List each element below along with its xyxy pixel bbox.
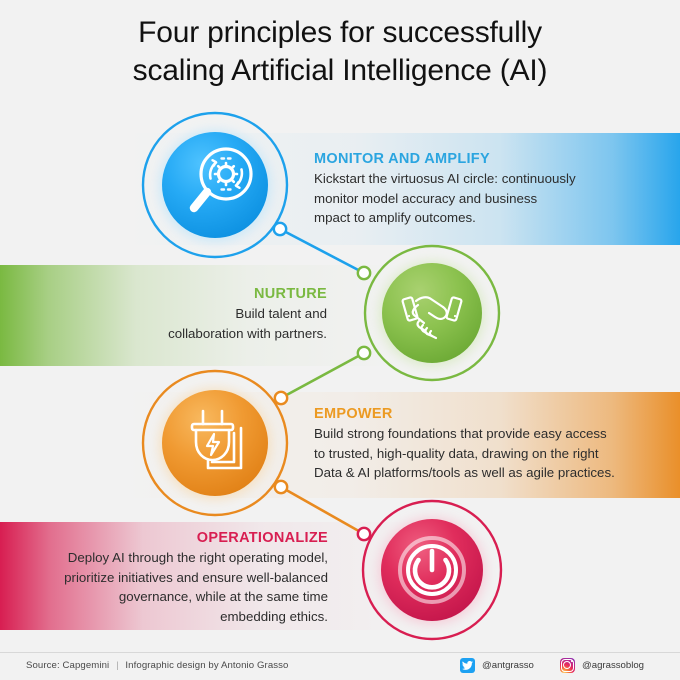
instagram-handle: @agrassoblog bbox=[582, 660, 644, 671]
power-button-icon bbox=[400, 538, 464, 602]
body-line: governance, while at the same time bbox=[10, 587, 328, 607]
connector-node-monitor bbox=[274, 223, 286, 235]
text-operationalize: OPERATIONALIZE Deploy AI through the rig… bbox=[10, 530, 328, 626]
connector-node-nurture-top bbox=[358, 267, 370, 279]
body-line: Deploy AI through the right operating mo… bbox=[10, 548, 328, 568]
social-instagram[interactable]: @agrassoblog bbox=[560, 658, 644, 673]
social-twitter[interactable]: @antgrasso bbox=[460, 658, 534, 673]
instagram-icon bbox=[560, 658, 575, 673]
source-label: Source: Capgemini bbox=[26, 660, 109, 671]
body-line: Data & AI platforms/tools as well as agi… bbox=[314, 463, 666, 483]
node-monitor-and-amplify[interactable] bbox=[143, 113, 287, 257]
body-operationalize: Deploy AI through the right operating mo… bbox=[10, 548, 328, 626]
body-nurture: Build talent and collaboration with part… bbox=[20, 304, 327, 343]
heading-monitor-and-amplify: MONITOR AND AMPLIFY bbox=[314, 151, 664, 167]
body-line: prioritize initiatives and ensure well-b… bbox=[10, 568, 328, 588]
body-line: Build strong foundations that provide ea… bbox=[314, 424, 666, 444]
connector-node-empower-bottom bbox=[275, 481, 287, 493]
body-line: embedding ethics. bbox=[10, 607, 328, 627]
footer-separator: | bbox=[116, 660, 119, 671]
body-line: Kickstart the virtuosus AI circle: conti… bbox=[314, 169, 664, 189]
heading-nurture: NURTURE bbox=[20, 286, 327, 302]
twitter-handle: @antgrasso bbox=[482, 660, 534, 671]
body-line: Build talent and bbox=[20, 304, 327, 324]
body-line: to trusted, high-quality data, drawing o… bbox=[314, 444, 666, 464]
design-credit: Infographic design by Antonio Grasso bbox=[125, 660, 288, 671]
text-nurture: NURTURE Build talent and collaboration w… bbox=[20, 286, 327, 343]
text-empower: EMPOWER Build strong foundations that pr… bbox=[314, 406, 666, 483]
twitter-icon bbox=[460, 658, 475, 673]
connector-empower-operationalize bbox=[281, 487, 364, 534]
heading-operationalize: OPERATIONALIZE bbox=[10, 530, 328, 546]
infographic-canvas: Four principles for successfully scaling… bbox=[0, 0, 680, 680]
connector-monitor-nurture bbox=[280, 229, 364, 273]
node-empower[interactable] bbox=[143, 371, 287, 515]
node-nurture[interactable] bbox=[358, 246, 499, 380]
body-line: collaboration with partners. bbox=[20, 324, 327, 344]
body-line: monitor model accuracy and business bbox=[314, 189, 664, 209]
body-monitor-and-amplify: Kickstart the virtuosus AI circle: conti… bbox=[314, 169, 664, 228]
connector-node-nurture-bottom bbox=[358, 347, 370, 359]
disc-monitor bbox=[162, 132, 268, 238]
heading-empower: EMPOWER bbox=[314, 406, 666, 422]
disc-nurture bbox=[382, 263, 482, 363]
body-empower: Build strong foundations that provide ea… bbox=[314, 424, 666, 483]
node-operationalize[interactable] bbox=[358, 501, 501, 639]
connector-node-empower-top bbox=[275, 392, 287, 404]
connector-node-operationalize bbox=[358, 528, 370, 540]
connector-nurture-empower bbox=[281, 353, 364, 398]
footer-credit: Source: Capgemini | Infographic design b… bbox=[26, 660, 289, 671]
body-line: mpact to amplify outcomes. bbox=[314, 208, 664, 228]
text-monitor-and-amplify: MONITOR AND AMPLIFY Kickstart the virtuo… bbox=[314, 151, 664, 228]
footer-divider bbox=[0, 652, 680, 653]
